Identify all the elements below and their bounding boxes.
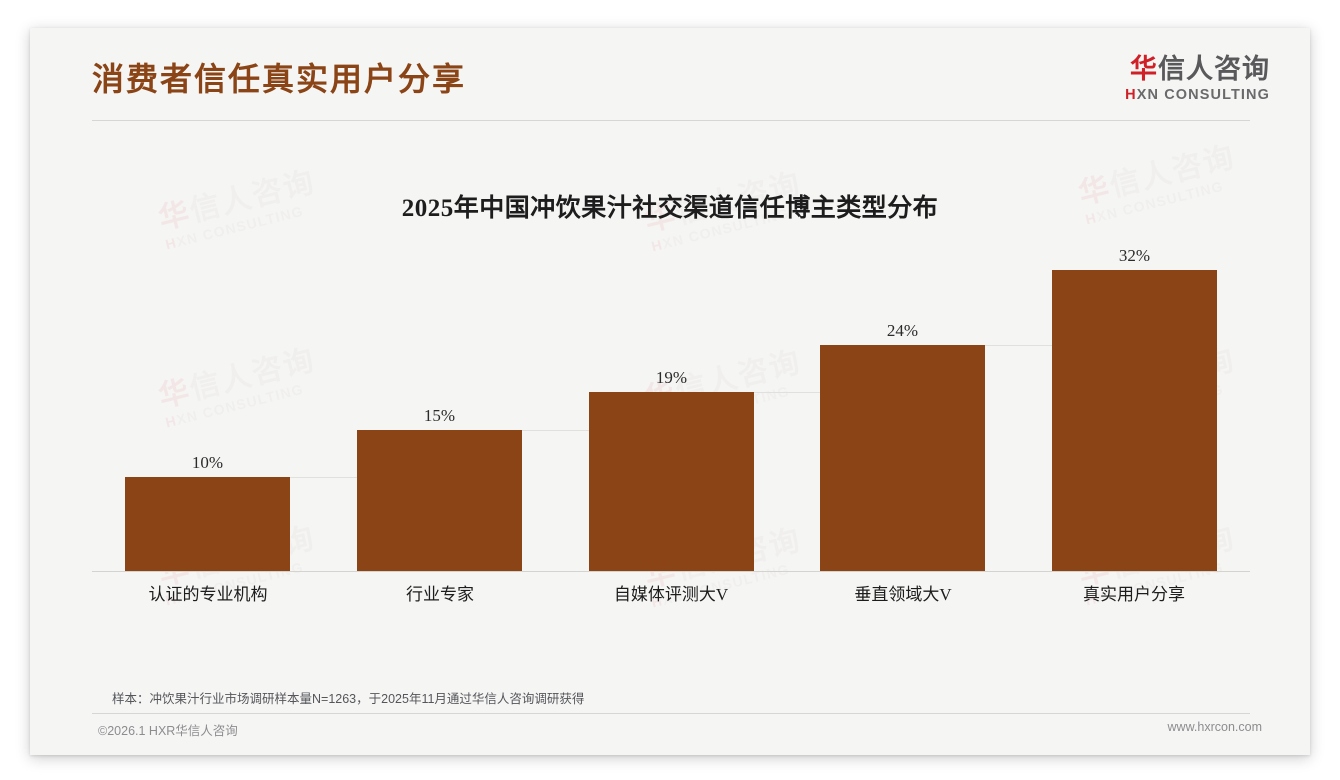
chart-category-label: 行业专家	[324, 580, 556, 605]
chart-bar	[357, 430, 522, 571]
chart-connector-line	[754, 392, 820, 393]
slide-card: 华信人咨询 HXN CONSULTING 华信人咨询 HXN CONSULTIN…	[30, 28, 1310, 755]
company-logo: 华信人咨询 HXN CONSULTING	[1125, 56, 1270, 103]
chart-plot-area: 10%15%19%24%32%	[92, 243, 1250, 573]
logo-cn-rest: 信人咨询	[1158, 54, 1270, 84]
chart-connector-line	[985, 345, 1052, 346]
chart-category-label: 自媒体评测大V	[555, 580, 787, 605]
logo-cn-accent: 华	[1130, 54, 1158, 84]
chart-bar-value-label: 15%	[357, 406, 522, 426]
chart-bar-value-label: 19%	[589, 368, 754, 388]
logo-chinese-text: 华信人咨询	[1125, 56, 1270, 83]
slide-header: 消费者信任真实用户分享 华信人咨询 HXN CONSULTING	[30, 28, 1310, 121]
chart-category-label: 认证的专业机构	[92, 580, 324, 605]
chart-footnote: 样本：冲饮果汁行业市场调研样本量N=1263，于2025年11月通过华信人咨询调…	[112, 688, 584, 707]
footer-divider	[92, 713, 1250, 714]
logo-english-text: HXN CONSULTING	[1125, 88, 1270, 103]
chart-connector-line	[522, 430, 589, 431]
footer-copyright: ©2026.1 HXR华信人咨询	[98, 720, 238, 739]
chart-bar	[125, 477, 290, 571]
footer-website: www.hxrcon.com	[1168, 720, 1262, 734]
chart-bar	[1052, 270, 1217, 571]
chart-baseline-axis	[92, 571, 1250, 572]
header-divider	[92, 120, 1250, 121]
chart-bar	[589, 392, 754, 571]
chart-bar	[820, 345, 985, 571]
chart-bar-value-label: 32%	[1052, 246, 1217, 266]
logo-en-rest: XN CONSULTING	[1137, 87, 1270, 103]
chart-category-label: 真实用户分享	[1018, 580, 1250, 605]
logo-en-accent: H	[1125, 87, 1137, 103]
page-title: 消费者信任真实用户分享	[92, 54, 466, 100]
chart-bar-value-label: 24%	[820, 321, 985, 341]
chart-title: 2025年中国冲饮果汁社交渠道信任博主类型分布	[30, 188, 1310, 224]
chart-category-label: 垂直领域大V	[787, 580, 1019, 605]
chart-bar-value-label: 10%	[125, 453, 290, 473]
chart-connector-line	[290, 477, 357, 478]
